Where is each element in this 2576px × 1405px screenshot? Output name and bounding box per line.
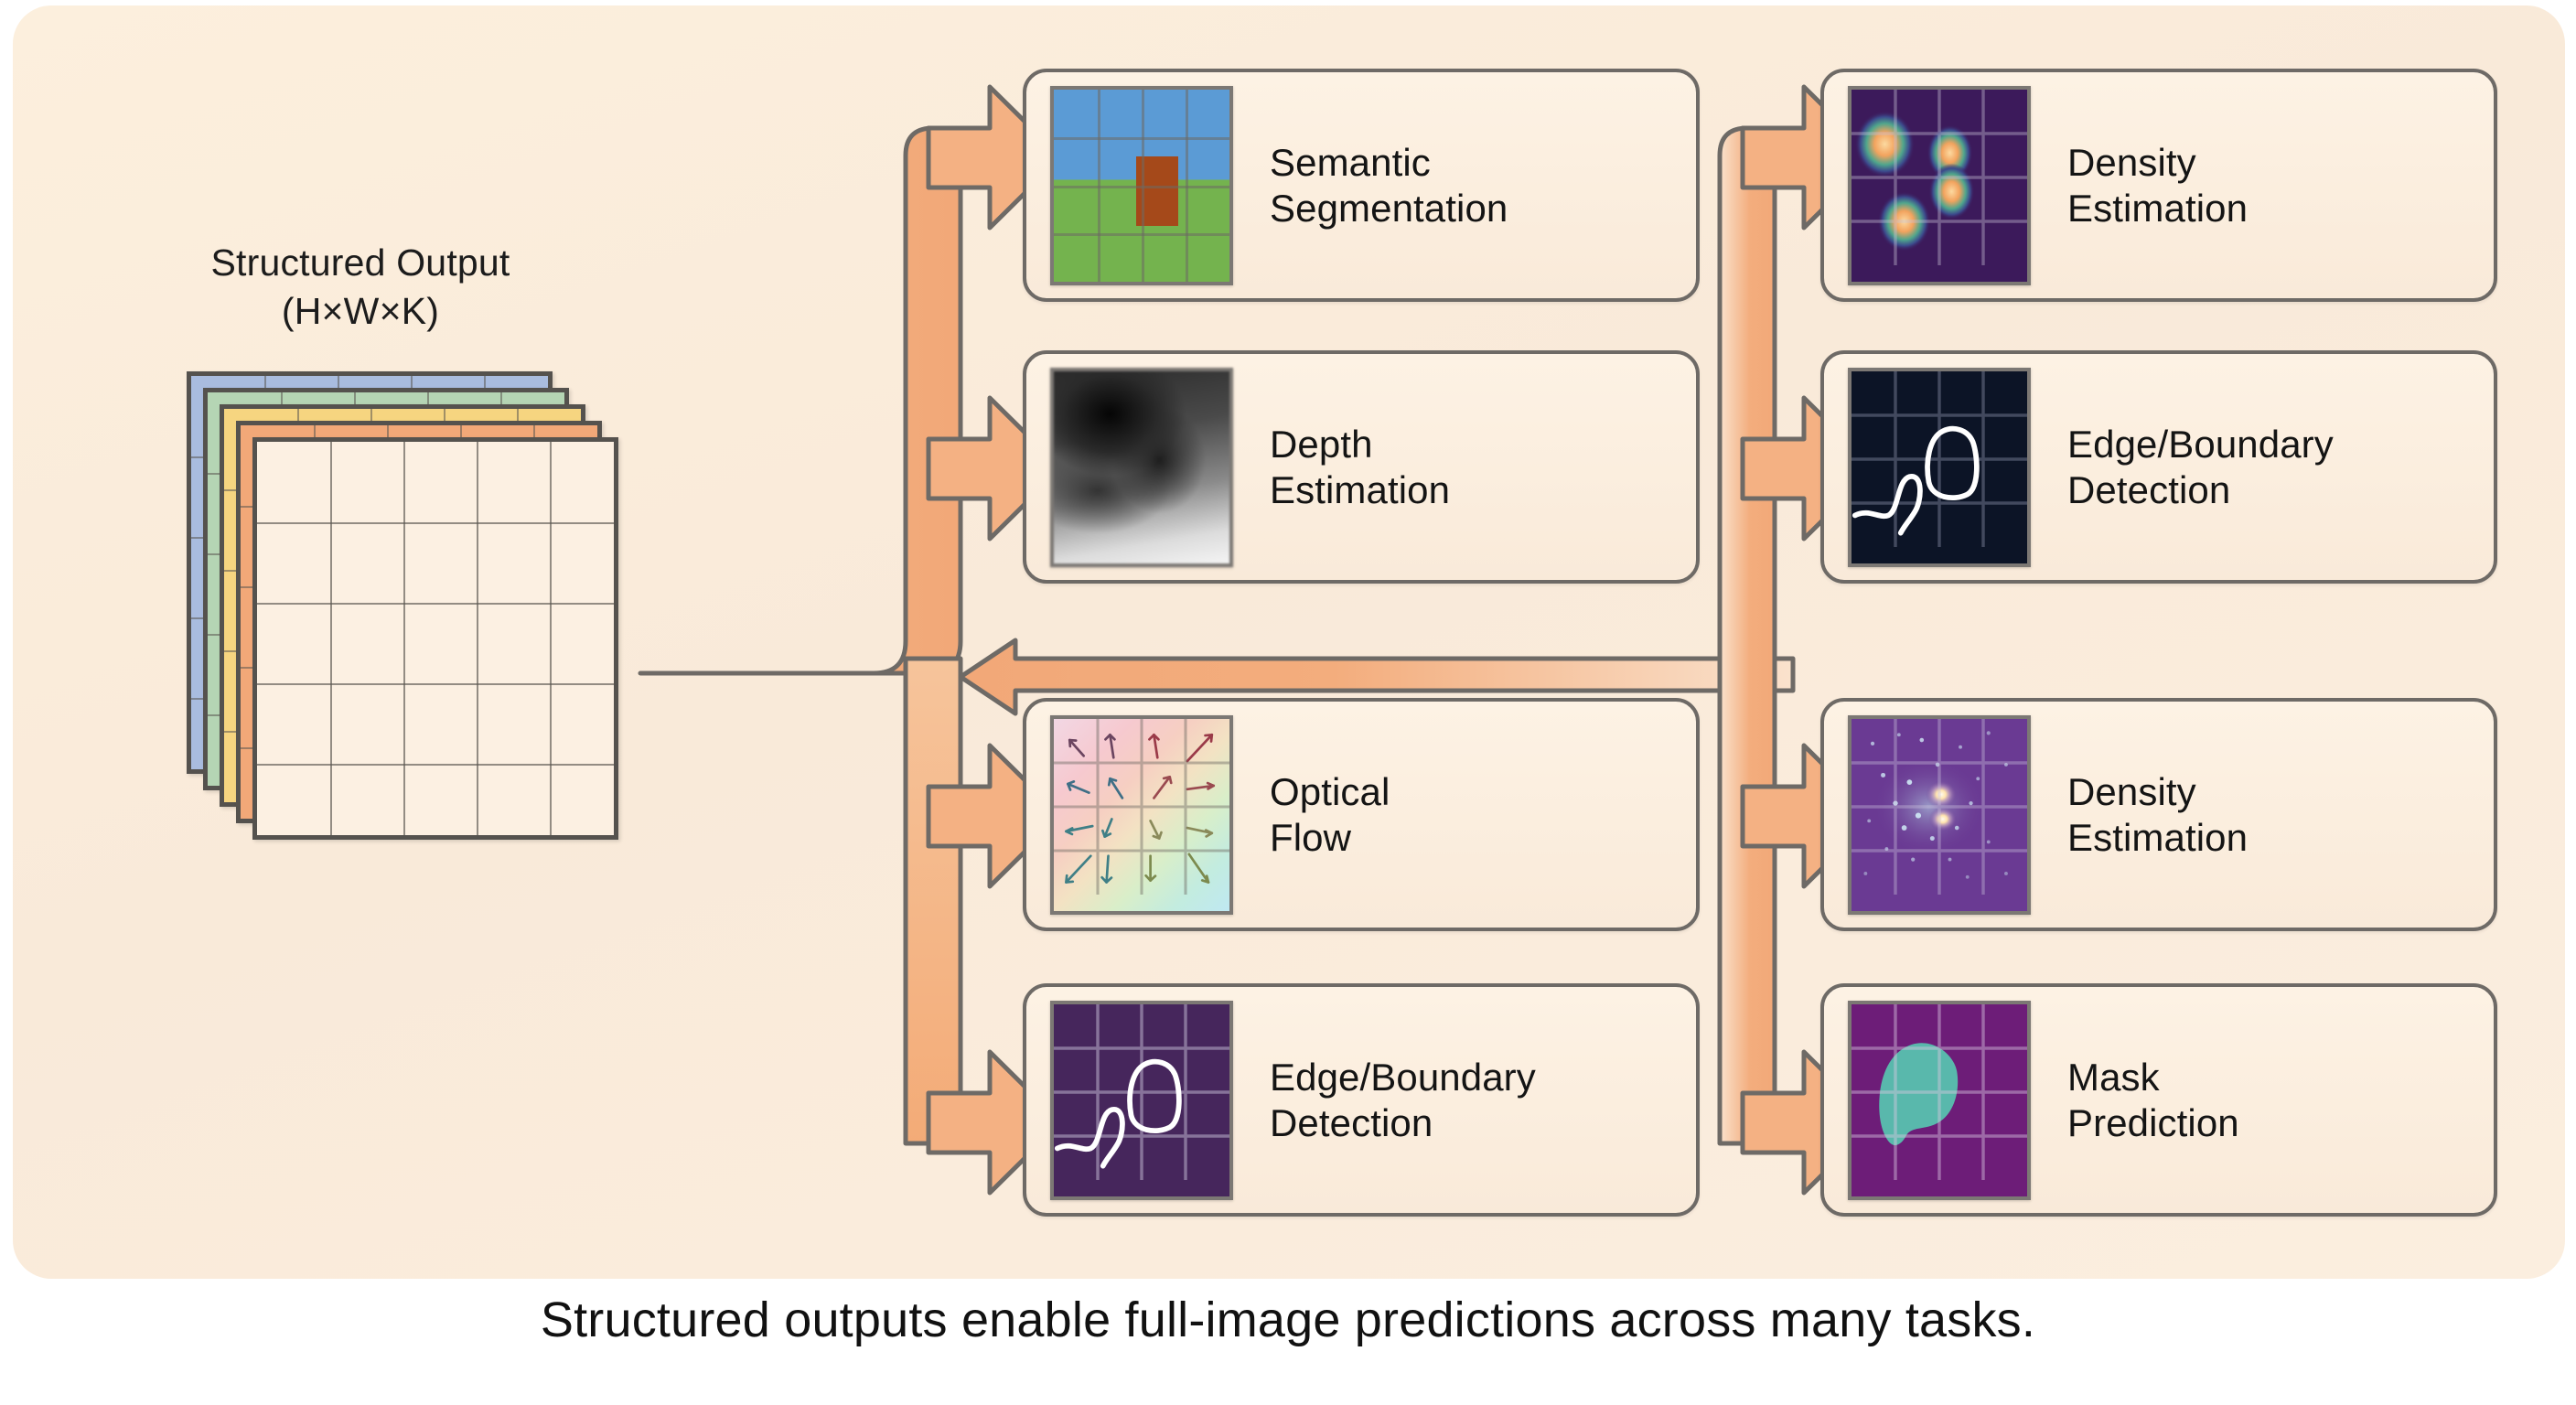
card-optical-flow[interactable]: Optical Flow xyxy=(1023,698,1700,931)
label-line1: Density xyxy=(2067,140,2248,185)
label-line2: Estimation xyxy=(2067,186,2248,231)
contour-lines xyxy=(1054,1004,1229,1180)
structured-output-stack xyxy=(187,371,662,902)
card-label-edge-boundary-left: Edge/Boundary Detection xyxy=(1270,1055,1536,1144)
card-edge-boundary-detection-right[interactable]: Edge/Boundary Detection xyxy=(1820,350,2497,584)
card-semantic-segmentation[interactable]: Semantic Segmentation xyxy=(1023,69,1700,302)
label-line1: Semantic xyxy=(1270,140,1508,185)
source-title-line1: Structured Output xyxy=(104,239,617,287)
label-line2: Estimation xyxy=(2067,815,2248,860)
label-line1: Density xyxy=(2067,769,2248,814)
label-line1: Depth xyxy=(1270,422,1450,467)
card-edge-boundary-detection-left[interactable]: Edge/Boundary Detection xyxy=(1023,983,1700,1217)
density-blobs xyxy=(1851,90,2027,265)
edge-map-thumbnail xyxy=(1050,1001,1233,1200)
mask-thumbnail xyxy=(1848,1001,2031,1200)
tensor-layer-5-front xyxy=(252,437,618,840)
label-line2: Estimation xyxy=(1270,467,1450,512)
source-title: Structured Output (H×W×K) xyxy=(104,239,617,337)
card-density-estimation-galaxy[interactable]: Density Estimation xyxy=(1820,698,2497,931)
card-label-density-blobs: Density Estimation xyxy=(2067,140,2248,230)
card-mask-prediction[interactable]: Mask Prediction xyxy=(1820,983,2497,1217)
card-label-density-galaxy: Density Estimation xyxy=(2067,769,2248,859)
label-line2: Segmentation xyxy=(1270,186,1508,231)
card-label-edge-boundary-right: Edge/Boundary Detection xyxy=(2067,422,2334,511)
galaxy-density-thumbnail xyxy=(1848,715,2031,915)
density-heatmap-thumbnail xyxy=(1848,86,2031,285)
contour-lines xyxy=(1851,371,2027,547)
figure-caption: Structured outputs enable full-image pre… xyxy=(0,1292,2576,1348)
label-line1: Edge/Boundary xyxy=(2067,422,2334,467)
galaxy-scatter xyxy=(1851,719,2027,895)
mask-blob xyxy=(1851,1004,2027,1180)
card-depth-estimation[interactable]: Depth Estimation xyxy=(1023,350,1700,584)
label-line2: Flow xyxy=(1270,815,1390,860)
label-line1: Edge/Boundary xyxy=(1270,1055,1536,1099)
label-line1: Mask xyxy=(2067,1055,2239,1099)
card-label-optical-flow: Optical Flow xyxy=(1270,769,1390,859)
optical-flow-thumbnail xyxy=(1050,715,1233,915)
label-line2: Detection xyxy=(2067,467,2334,512)
card-label-depth-estimation: Depth Estimation xyxy=(1270,422,1450,511)
label-line2: Detection xyxy=(1270,1100,1536,1145)
flow-arrow-field xyxy=(1054,719,1229,895)
source-title-line2: (H×W×K) xyxy=(104,287,617,336)
card-label-semantic-segmentation: Semantic Segmentation xyxy=(1270,140,1508,230)
depth-map-thumbnail xyxy=(1050,368,1233,567)
card-label-mask-prediction: Mask Prediction xyxy=(2067,1055,2239,1144)
label-line2: Prediction xyxy=(2067,1100,2239,1145)
card-density-estimation-blobs[interactable]: Density Estimation xyxy=(1820,69,2497,302)
label-line1: Optical xyxy=(1270,769,1390,814)
segmentation-thumbnail xyxy=(1050,86,1233,285)
edge-map-thumbnail xyxy=(1848,368,2031,567)
